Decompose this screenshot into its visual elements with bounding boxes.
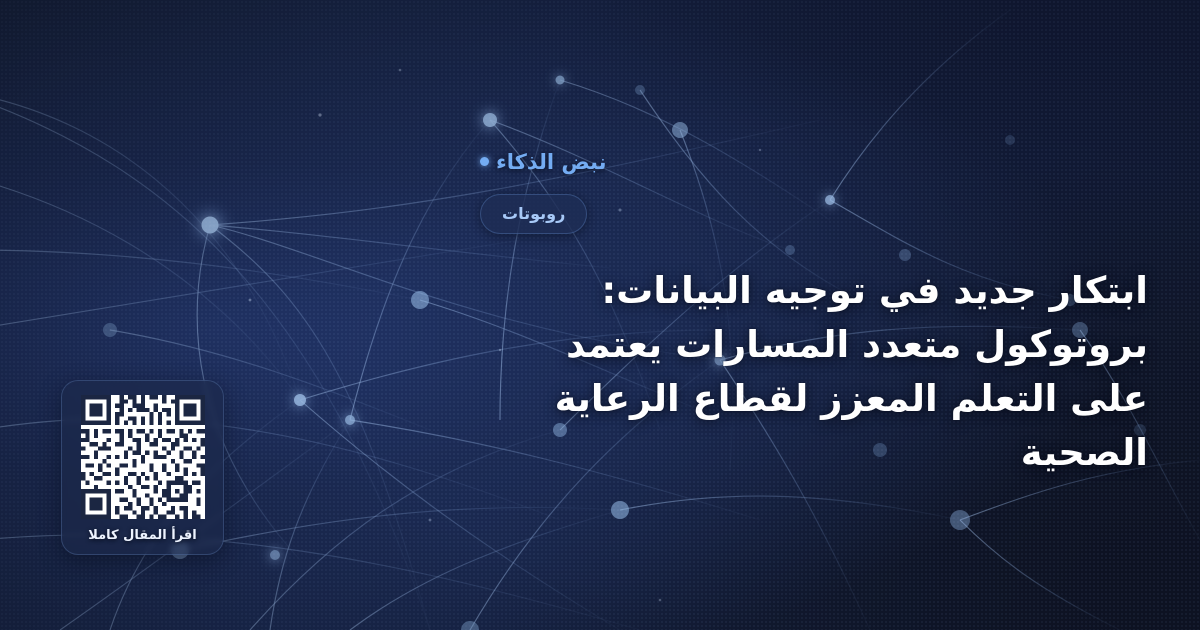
category-badge[interactable]: روبوتات xyxy=(480,194,587,234)
content-column: نبض الذكاء روبوتات ابتكار جديد في توجيه … xyxy=(480,0,1200,630)
qr-code-card[interactable]: اقرأ المقال كاملا xyxy=(61,380,224,555)
social-share-card: نبض الذكاء روبوتات ابتكار جديد في توجيه … xyxy=(0,0,1200,630)
page-title: ابتكار جديد في توجيه البيانات: بروتوكول … xyxy=(480,264,1148,480)
brand-dot-icon xyxy=(480,157,489,166)
qr-card-label: اقرأ المقال كاملا xyxy=(88,528,197,543)
brand-name: نبض الذكاء xyxy=(480,150,606,174)
qr-code-icon xyxy=(81,395,205,519)
brand-label: نبض الذكاء xyxy=(496,150,606,174)
